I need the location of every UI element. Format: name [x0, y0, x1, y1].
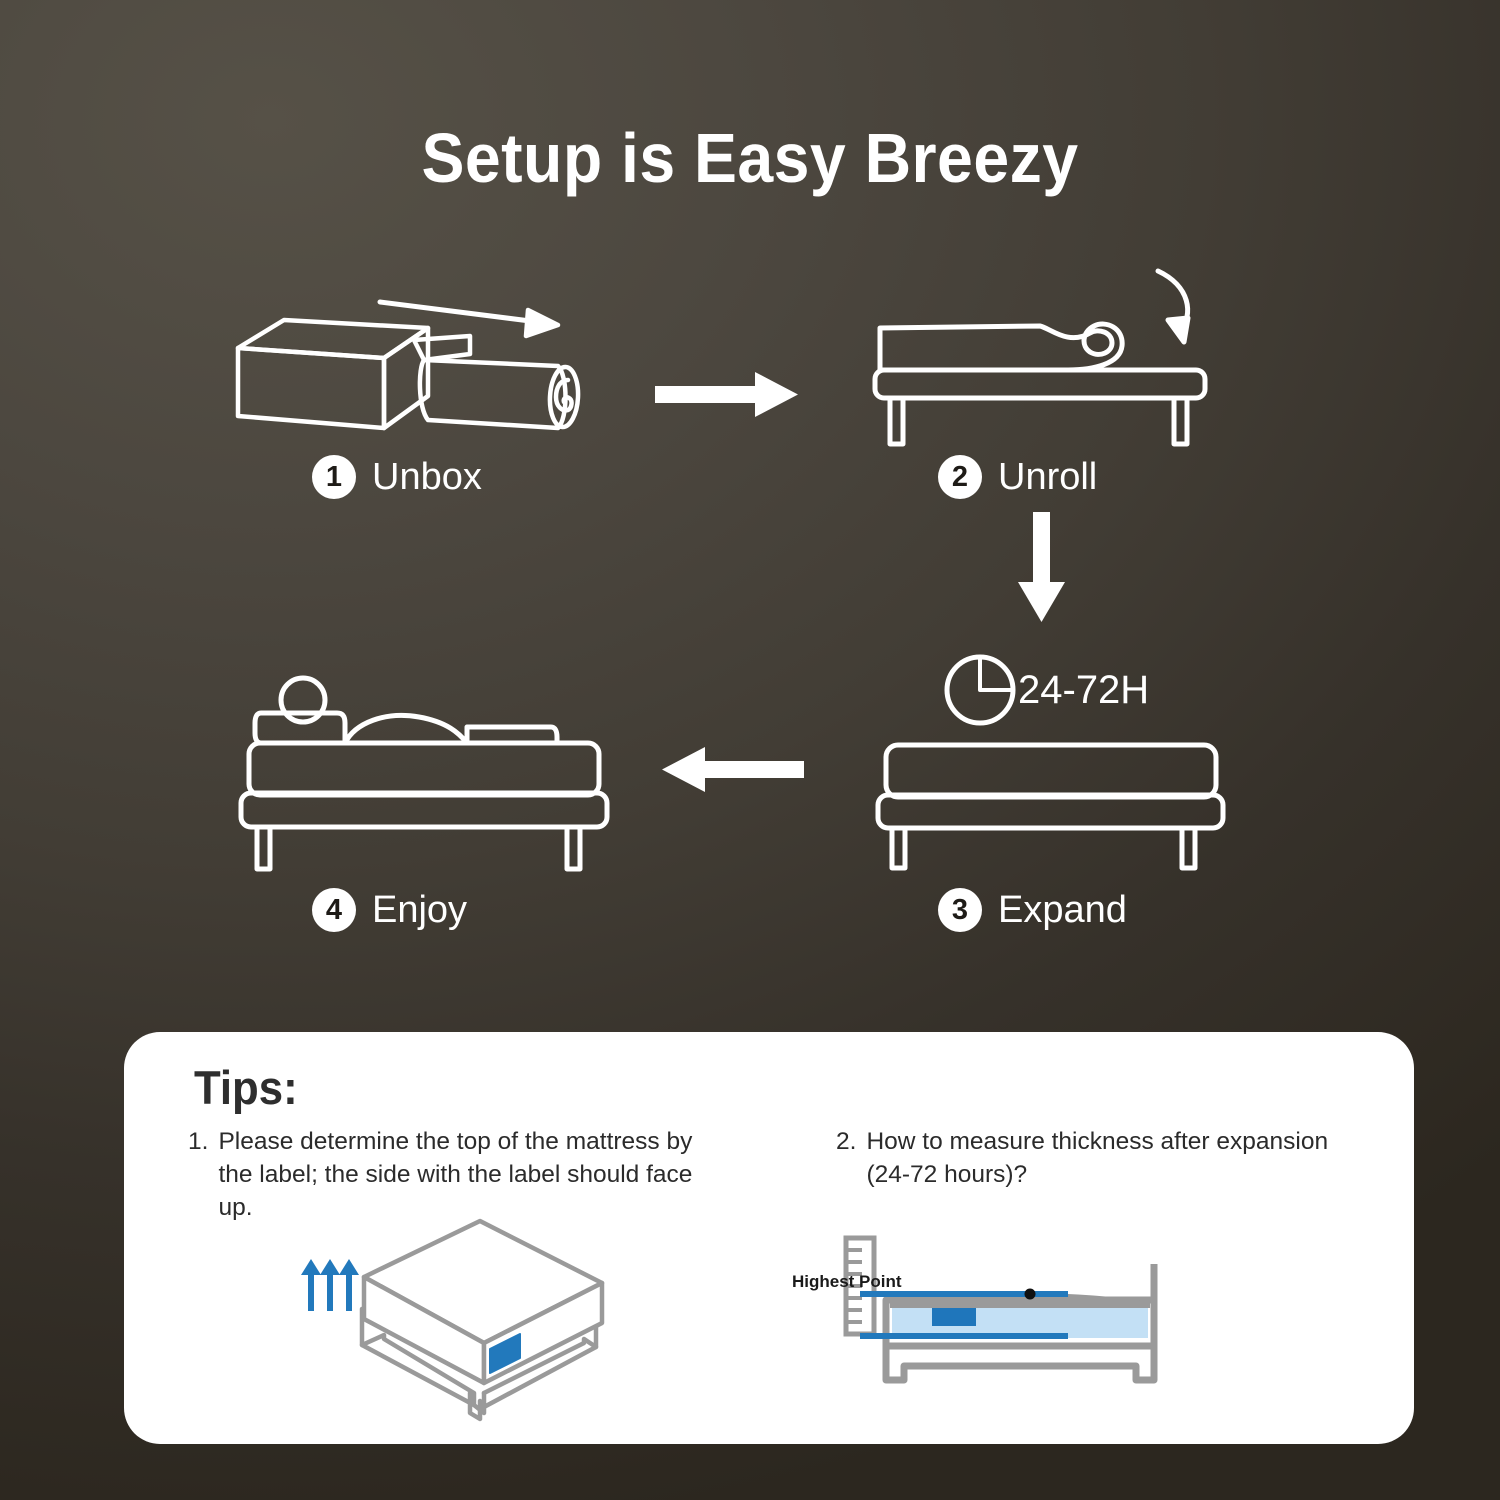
page-title: Setup is Easy Breezy: [60, 118, 1440, 198]
mattress-label: [932, 1308, 976, 1326]
step-3-label: 3 Expand: [938, 888, 1127, 932]
arrow-step3-to-step4: [660, 745, 805, 800]
tips-card: Tips: 1. Please determine the top of the…: [124, 1032, 1414, 1444]
mattress: [249, 743, 599, 795]
bed-base: [878, 795, 1223, 868]
tip-item-2: 2. How to measure thickness after expans…: [836, 1125, 1366, 1191]
label-up-arrows-icon: [301, 1259, 359, 1311]
tip-2-text: How to measure thickness after expansion…: [866, 1125, 1366, 1191]
arrow-step2-to-step3: [1012, 512, 1072, 629]
step-4-label-text: Enjoy: [372, 889, 467, 932]
pillow: [255, 713, 345, 743]
step-1-badge: 1: [312, 455, 356, 499]
step-2-label: 2 Unroll: [938, 455, 1097, 499]
setup-instructions-page: Setup is Easy Breezy 1 Unbox: [0, 0, 1500, 1500]
tip-1-number: 1.: [188, 1125, 208, 1224]
expanded-mattress: [886, 745, 1216, 797]
highest-point-label: Highest Point: [792, 1272, 902, 1292]
step-4-label: 4 Enjoy: [312, 888, 467, 932]
step-1-label-text: Unbox: [372, 456, 482, 499]
step-4-badge: 4: [312, 888, 356, 932]
tip-item-1: 1. Please determine the top of the mattr…: [188, 1125, 718, 1224]
step-2-badge: 2: [938, 455, 982, 499]
bed-base: [241, 793, 607, 869]
blanket-body: [345, 715, 467, 743]
unroll-curved-arrow: [1158, 271, 1188, 342]
step-3-badge: 3: [938, 888, 982, 932]
expand-timer-text: 24-72H: [1018, 668, 1149, 713]
tip-1-text: Please determine the top of the mattress…: [218, 1125, 718, 1224]
highest-point-dot: [1025, 1289, 1036, 1300]
unrolling-mattress: [880, 324, 1122, 370]
step-2-label-text: Unroll: [998, 456, 1097, 499]
step-1-illustration: [228, 268, 628, 463]
arrow-step1-to-step2: [655, 370, 805, 425]
unbox-pull-arrow: [380, 302, 558, 336]
tip-2-number: 2.: [836, 1125, 856, 1191]
step-1-label: 1 Unbox: [312, 455, 482, 499]
bed-base: [875, 370, 1205, 444]
step-4-illustration: [235, 665, 615, 895]
step-3-label-text: Expand: [998, 889, 1127, 932]
mattress-fill: [892, 1304, 1148, 1338]
clock-quarter-icon: [947, 657, 1013, 723]
step-2-illustration: [868, 258, 1238, 458]
tip-1-illustration: [284, 1217, 634, 1437]
tip-2-illustration: [824, 1232, 1224, 1422]
tips-heading: Tips:: [194, 1060, 298, 1115]
expand-timer-label: 24-72H: [1018, 668, 1149, 713]
